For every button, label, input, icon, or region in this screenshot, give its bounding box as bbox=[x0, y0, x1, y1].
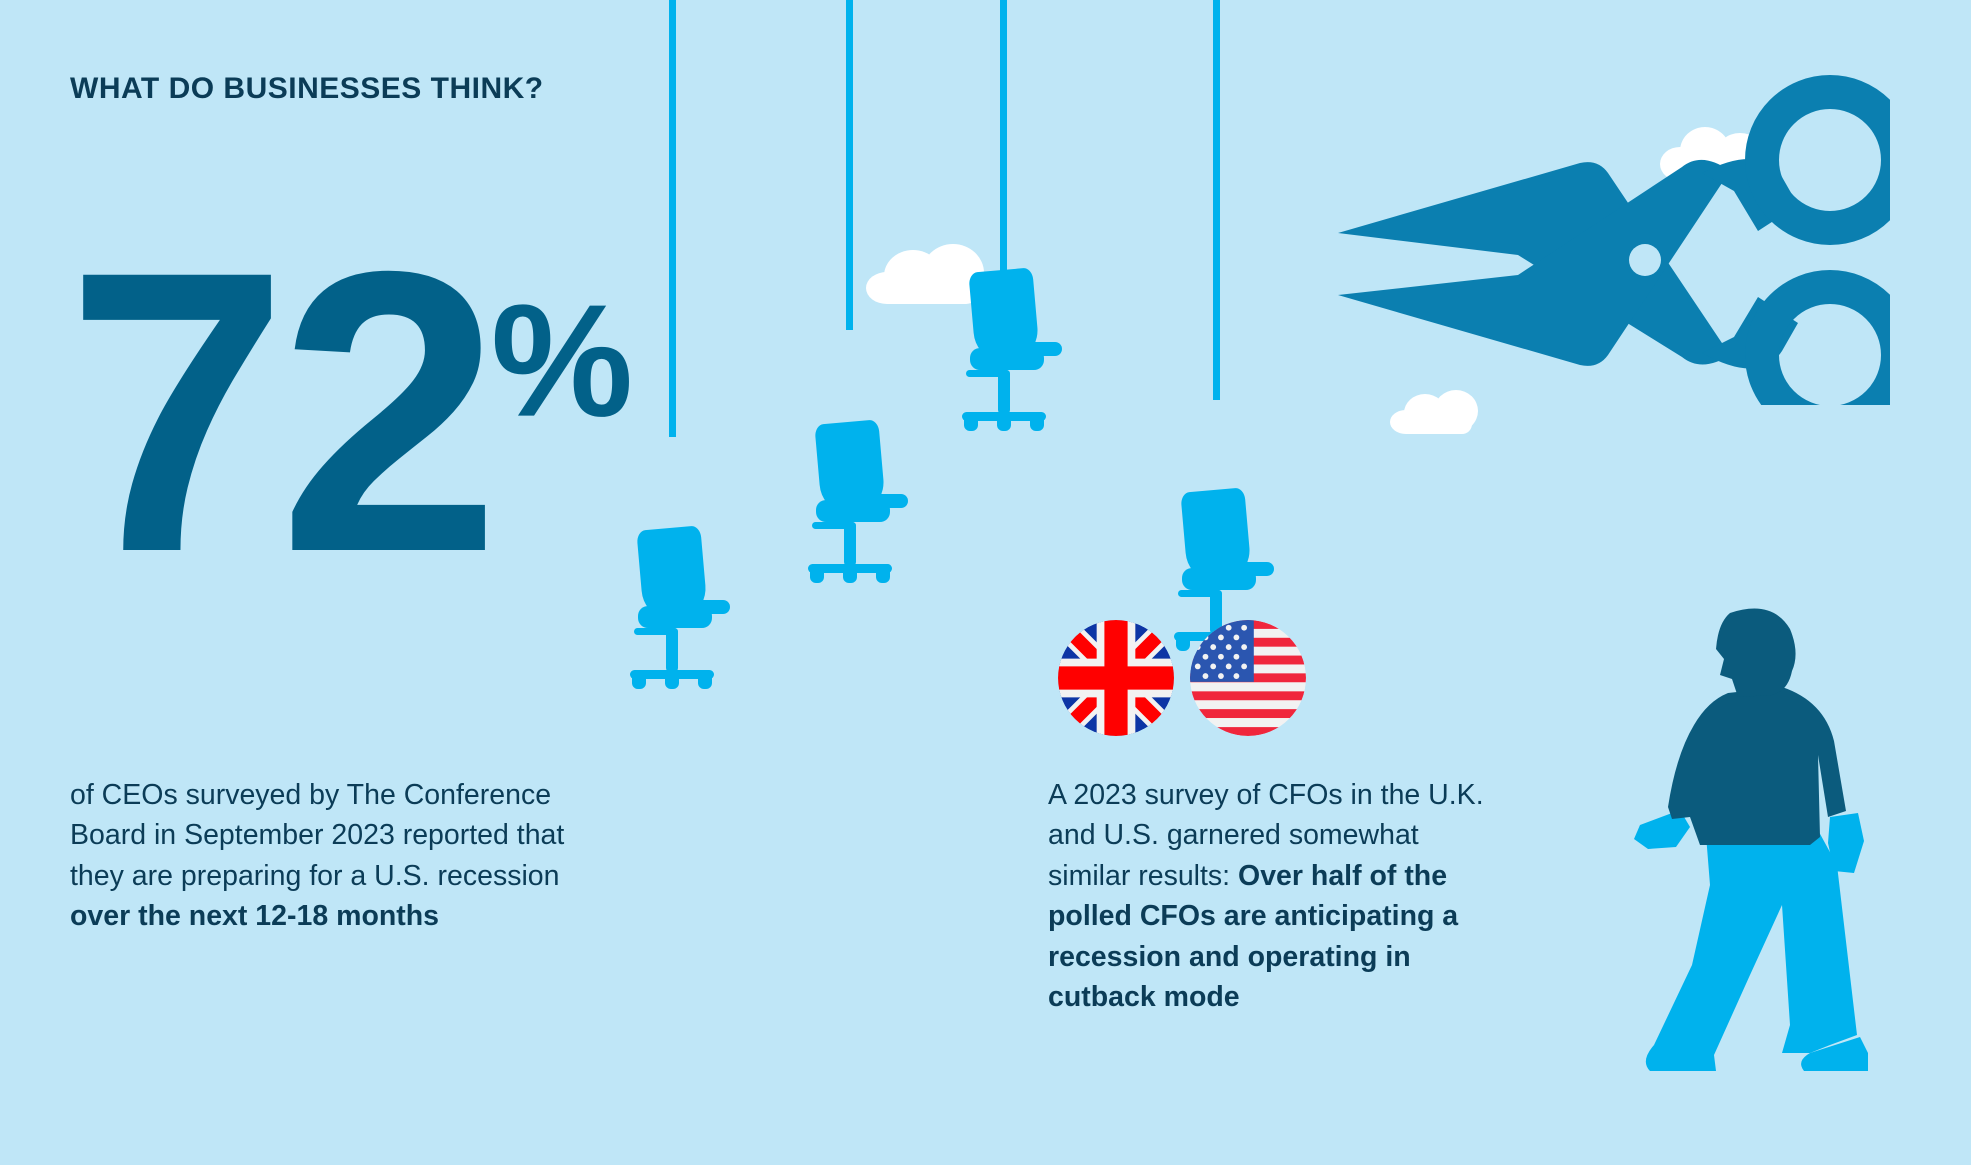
united-states-flag-icon bbox=[1190, 620, 1306, 736]
hanging-string bbox=[1213, 0, 1220, 400]
walking-person-icon bbox=[1632, 605, 1902, 1075]
hanging-string bbox=[846, 0, 853, 330]
left-paragraph-line: Board in September 2023 reported that bbox=[70, 815, 750, 855]
right-paragraph-lead: similar results: bbox=[1048, 860, 1238, 892]
right-paragraph-line: and U.S. garnered somewhat bbox=[1048, 815, 1608, 855]
united-kingdom-flag-icon bbox=[1058, 620, 1174, 736]
left-paragraph-line: they are preparing for a U.S. recession bbox=[70, 856, 750, 896]
stat-unit: % bbox=[491, 271, 631, 450]
right-paragraph: A 2023 survey of CFOs in the U.K. and U.… bbox=[1048, 775, 1608, 1018]
scissors-icon bbox=[1330, 55, 1890, 405]
office-chair-icon bbox=[940, 270, 1060, 430]
left-paragraph-emphasis: over the next 12-18 months bbox=[70, 900, 439, 932]
infographic-canvas: WHAT DO BUSINESSES THINK? 72% of CEOs su… bbox=[0, 0, 1971, 1165]
hanging-string bbox=[669, 0, 676, 437]
stat-value: 72% bbox=[66, 248, 631, 576]
right-paragraph-emphasis: cutback mode bbox=[1048, 981, 1240, 1013]
right-paragraph-emphasis: polled CFOs are anticipating a bbox=[1048, 900, 1458, 932]
right-paragraph-line: A 2023 survey of CFOs in the U.K. bbox=[1048, 775, 1608, 815]
left-paragraph: of CEOs surveyed by The Conference Board… bbox=[70, 775, 750, 937]
right-paragraph-emphasis: recession and operating in bbox=[1048, 941, 1411, 973]
hanging-string bbox=[1000, 0, 1007, 278]
office-chair-icon bbox=[786, 422, 906, 582]
right-paragraph-line: similar results: Over half of the bbox=[1048, 856, 1608, 896]
left-paragraph-line: of CEOs surveyed by The Conference bbox=[70, 775, 750, 815]
stat-number: 72 bbox=[66, 188, 491, 635]
page-title: WHAT DO BUSINESSES THINK? bbox=[70, 72, 544, 106]
right-paragraph-emphasis: Over half of the bbox=[1238, 860, 1447, 892]
